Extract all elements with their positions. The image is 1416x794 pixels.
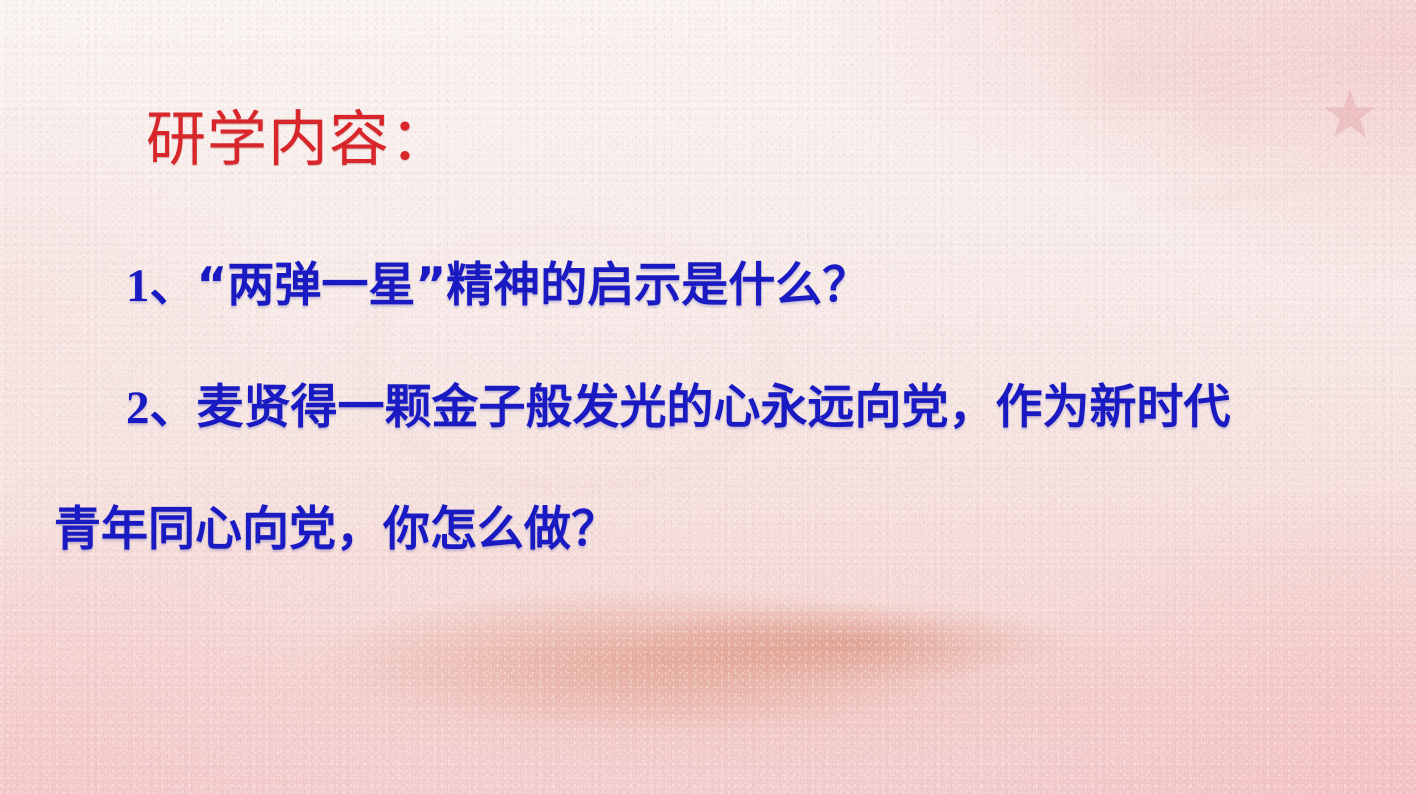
question-text-2: 麦贤得一颗金子般发光的心永远向党，作为新时代 <box>197 380 1231 435</box>
question-item-2-continued: 青年同心向党，你怎么做？ <box>54 506 618 553</box>
presentation-slide: 研学内容： 1、“两弹一星”精神的启示是什么？ 2、麦贤得一颗金子般发光的心永远… <box>0 0 1416 794</box>
question-item-2: 2、麦贤得一颗金子般发光的心永远向党，作为新时代 <box>126 384 1231 432</box>
page-title: 研学内容： <box>146 108 451 173</box>
question-number-1: 1 <box>126 260 150 312</box>
slide-content: 研学内容： 1、“两弹一星”精神的启示是什么？ 2、麦贤得一颗金子般发光的心永远… <box>0 0 1416 794</box>
question-separator-2: 、 <box>150 380 197 435</box>
question-text-2-continued: 青年同心向党，你怎么做？ <box>54 502 618 557</box>
question-item-1: 1、“两弹一星”精神的启示是什么？ <box>126 262 869 310</box>
question-separator-1: 、 <box>150 258 197 313</box>
question-number-2: 2 <box>126 382 150 434</box>
question-text-1: “两弹一星”精神的启示是什么？ <box>197 258 870 313</box>
